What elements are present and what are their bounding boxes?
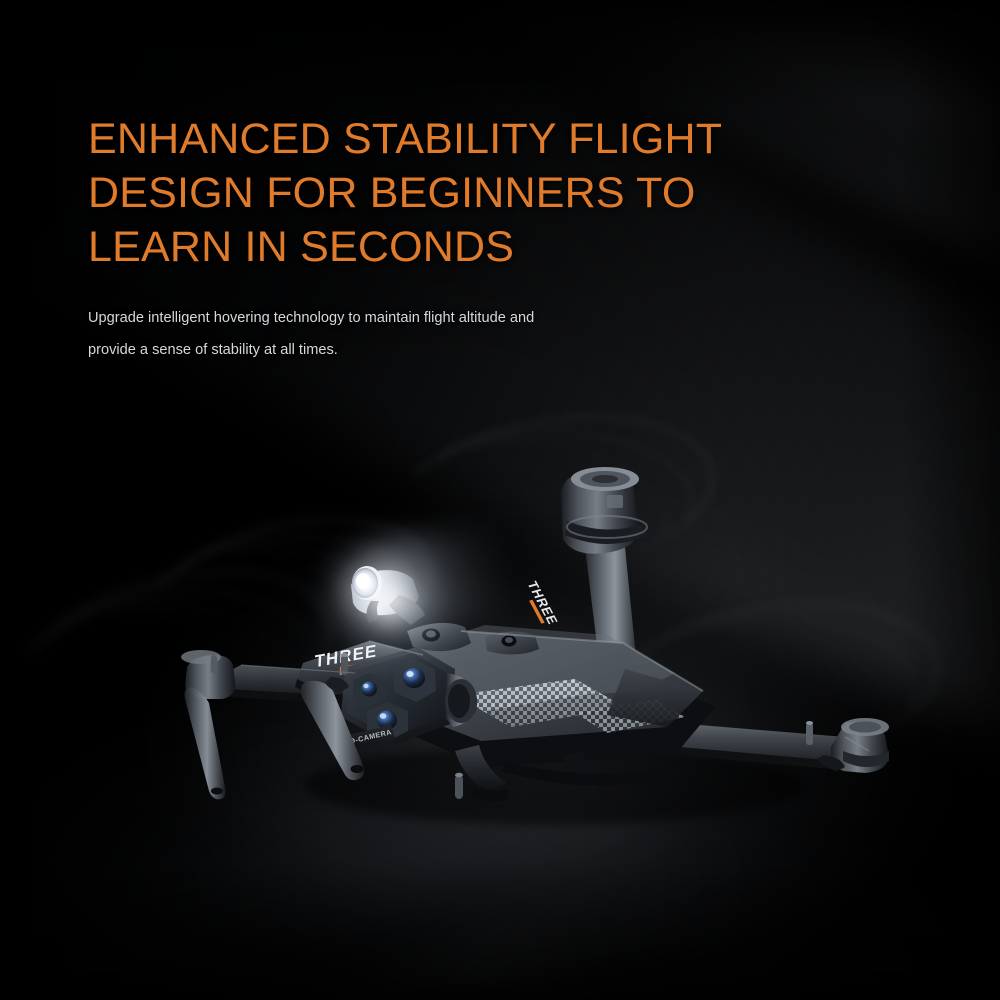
drone-product-image: THREE THREE <box>155 455 915 855</box>
brand-logo-rear: THREE <box>521 580 561 628</box>
drone-vector: THREE THREE <box>155 455 915 855</box>
page-subtitle: Upgrade intelligent hovering technology … <box>88 302 668 366</box>
led-headlight <box>351 566 425 625</box>
page-title: ENHANCED STABILITY FLIGHT DESIGN FOR BEG… <box>88 112 788 274</box>
hero-copy-block: ENHANCED STABILITY FLIGHT DESIGN FOR BEG… <box>88 112 788 366</box>
camera-lens-icon <box>361 682 377 697</box>
camera-lens-icon <box>403 668 425 688</box>
hero-stage: THREE THREE <box>0 0 1000 1000</box>
